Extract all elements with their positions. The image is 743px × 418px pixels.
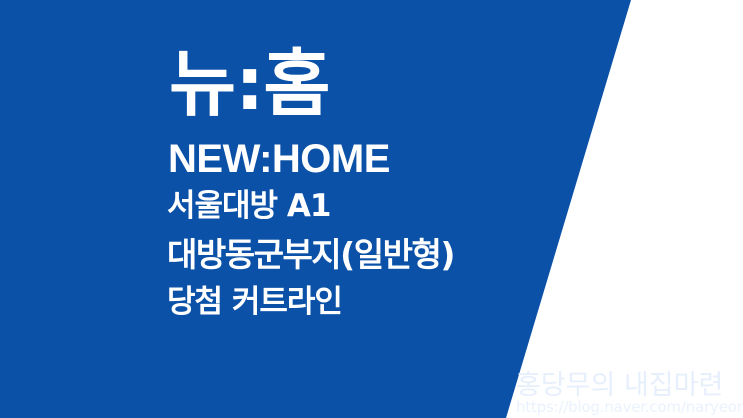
- banner-image: 뉴:홈 NEW:HOME 서울대방 A1 대방동군부지(일반형) 당첨 커트라인…: [0, 0, 743, 418]
- watermark-url: https://blog.naver.com/naryeong_gi: [516, 398, 743, 416]
- watermark-title: 홍당무의 내집마련: [516, 372, 743, 400]
- newhome-logo-wordmark: NEW:HOME: [168, 139, 587, 179]
- project-name-line: 대방동군부지(일반형): [167, 238, 587, 271]
- watermark: 홍당무의 내집마련 https://blog.naver.com/naryeon…: [516, 372, 743, 416]
- project-site-line: 서울대방 A1: [167, 191, 587, 222]
- topic-line: 당첨 커트라인: [167, 287, 587, 318]
- banner-text-block: 뉴:홈 NEW:HOME 서울대방 A1 대방동군부지(일반형) 당첨 커트라인: [167, 48, 587, 334]
- newhome-logo-mark: 뉴:홈: [169, 48, 587, 121]
